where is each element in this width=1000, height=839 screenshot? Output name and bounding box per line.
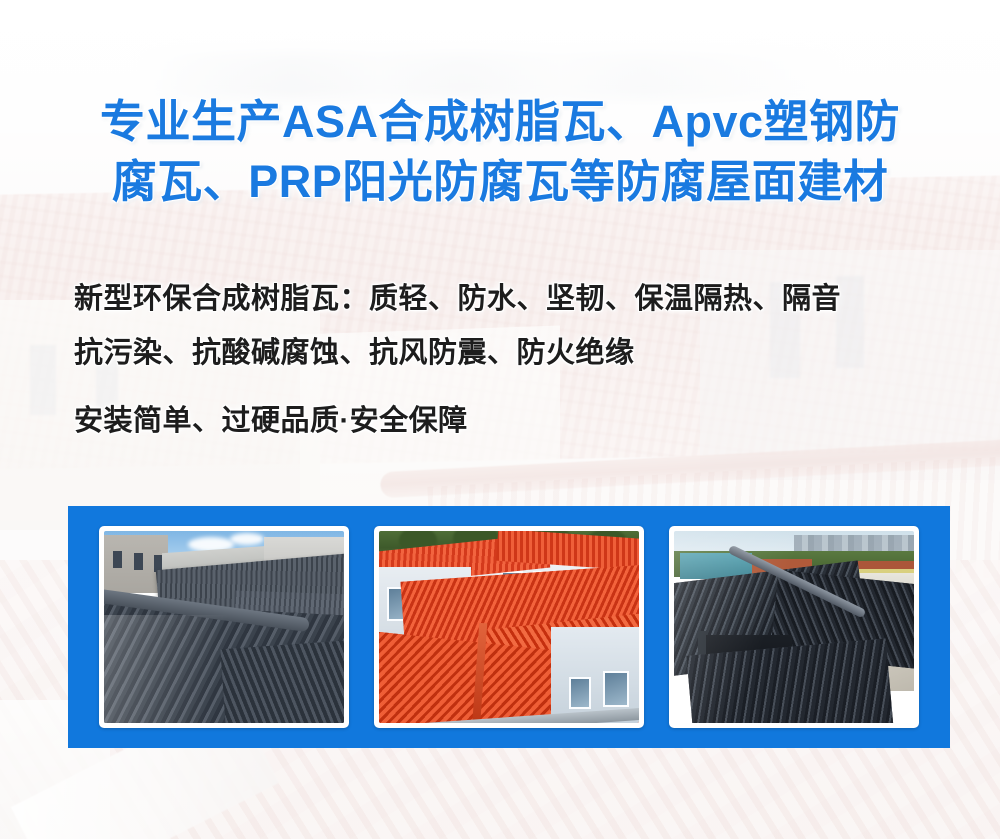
subtitle-line-1: 新型环保合成树脂瓦：质轻、防水、坚韧、保温隔热、隔音 — [74, 272, 974, 326]
photo-gallery-panel — [68, 506, 950, 748]
gallery-photo-red-resin-tile-roofs-aerial[interactable] — [374, 526, 644, 728]
photo-highlight-sheen — [674, 531, 914, 723]
photo-highlight-sheen — [104, 615, 344, 723]
subtitle-block: 新型环保合成树脂瓦：质轻、防水、坚韧、保温隔热、隔音 抗污染、抗酸碱腐蚀、抗风防… — [74, 272, 974, 448]
gallery-photo-black-resin-tile-roofs-wide[interactable] — [669, 526, 919, 728]
photo-image — [104, 531, 344, 723]
promo-banner: 专业生产ASA合成树脂瓦、Apvc塑钢防 腐瓦、PRP阳光防腐瓦等防腐屋面建材 … — [0, 0, 1000, 839]
photo-image — [674, 531, 914, 723]
headline: 专业生产ASA合成树脂瓦、Apvc塑钢防 腐瓦、PRP阳光防腐瓦等防腐屋面建材 — [0, 92, 1000, 212]
subtitle-line-2: 抗污染、抗酸碱腐蚀、抗风防震、防火绝缘 — [74, 326, 974, 380]
gallery-photo-grey-resin-tile-roof-closeup[interactable] — [99, 526, 349, 728]
headline-line-1: 专业生产ASA合成树脂瓦、Apvc塑钢防 — [0, 92, 1000, 152]
headline-line-2: 腐瓦、PRP阳光防腐瓦等防腐屋面建材 — [0, 152, 1000, 212]
subtitle-line-3: 安装简单、过硬品质·安全保障 — [74, 394, 974, 448]
building-window — [134, 553, 143, 570]
building-window — [603, 671, 629, 707]
building-window — [113, 551, 122, 568]
building-window — [569, 677, 591, 709]
cloud-shape — [230, 533, 264, 545]
photo-image — [379, 531, 639, 723]
